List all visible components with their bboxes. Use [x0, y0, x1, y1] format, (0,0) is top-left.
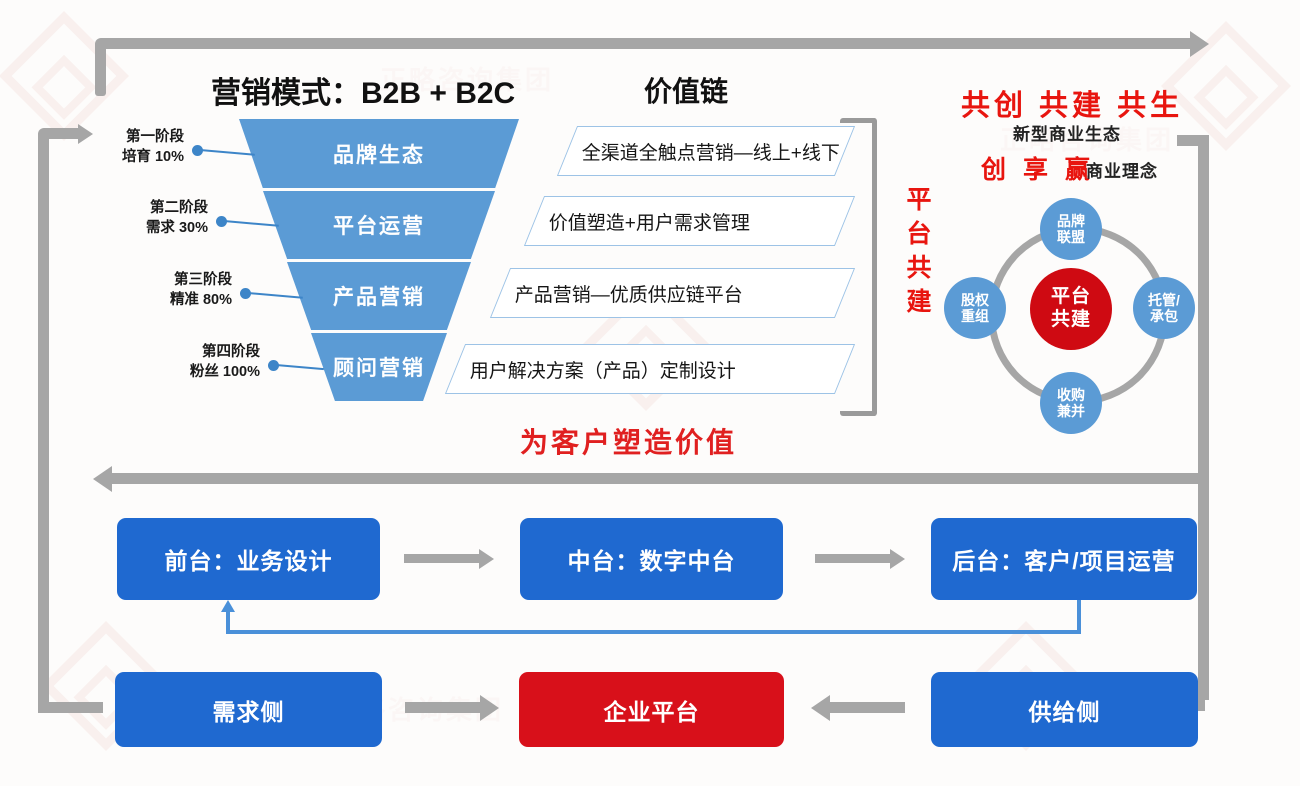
right-headline-red: 共创 共建 共生	[961, 82, 1183, 124]
bottom-box-supply-side[interactable]: 供给侧	[931, 672, 1198, 747]
cobuild-node-top[interactable]: 品牌 联盟	[1040, 198, 1102, 260]
bottom-box-demand-side[interactable]: 需求侧	[115, 672, 382, 747]
process-box-front-office[interactable]: 前台：业务设计	[117, 518, 380, 600]
cobuild-node-left-line2: 重组	[961, 308, 989, 324]
stage-label-3: 第三阶段 精准 80%	[124, 271, 232, 310]
flow-left-vertical	[38, 138, 49, 713]
cobuild-node-bottom-line2: 兼并	[1057, 403, 1085, 419]
flow-right-vertical	[1198, 135, 1209, 700]
right-concept-sub: 商业理念	[1086, 157, 1158, 182]
cobuild-node-top-line2: 联盟	[1057, 229, 1085, 245]
value-chain-box-4-label: 用户解决方案（产品）定制设计	[456, 356, 736, 383]
bottom-box-supply-side-label: 供给侧	[1029, 693, 1101, 727]
value-chain-box-1-label: 全渠道全触点营销—线上+线下	[568, 138, 840, 165]
funnel-slice-4-label: 顾问营销	[333, 352, 425, 382]
right-headline-sub: 新型商业生态	[1013, 120, 1121, 145]
right-concept-red: 创 享 赢	[981, 150, 1095, 186]
flow-top-arrow-head	[1190, 31, 1209, 57]
stage-1-line2: 培育 10%	[76, 148, 184, 168]
funnel-slice-4[interactable]: 顾问营销	[311, 333, 447, 401]
cobuild-node-right-line2: 承包	[1150, 308, 1178, 324]
stage-2-line1: 第二阶段	[100, 199, 208, 219]
cobuild-node-top-line1: 品牌	[1057, 213, 1085, 229]
stage-label-4: 第四阶段 粉丝 100%	[148, 343, 260, 382]
cobuild-center[interactable]: 平台 共建	[1030, 268, 1112, 350]
stage-2-leader	[224, 220, 279, 227]
value-chain-box-2-label: 价值塑造+用户需求管理	[535, 208, 750, 235]
value-chain-box-4[interactable]: 用户解决方案（产品）定制设计	[445, 344, 855, 394]
stage-1-line1: 第一阶段	[76, 128, 184, 148]
feedback-loop-vertical-right	[1077, 600, 1081, 634]
feedback-loop-horizontal	[226, 630, 1081, 634]
stage-label-2: 第二阶段 需求 30%	[100, 199, 208, 238]
stage-4-line1: 第四阶段	[148, 343, 260, 363]
funnel-slice-2[interactable]: 平台运营	[263, 191, 495, 259]
process-arrow-2-body	[815, 554, 890, 563]
cobuild-node-left[interactable]: 股权 重组	[944, 277, 1006, 339]
flow-return-arrow-head	[93, 466, 112, 492]
bottom-box-enterprise-platform[interactable]: 企业平台	[519, 672, 784, 747]
bottom-arrow-2-body	[830, 702, 905, 713]
process-arrow-1-head	[479, 549, 494, 569]
stage-2-line2: 需求 30%	[100, 219, 208, 239]
customer-value-slogan: 为客户塑造价值	[520, 421, 737, 461]
cobuild-node-right-line1: 托管/	[1148, 292, 1180, 308]
funnel-slice-3[interactable]: 产品营销	[287, 262, 471, 330]
stage-3-line1: 第三阶段	[124, 271, 232, 291]
stage-4-leader	[276, 364, 324, 370]
page-title-value-chain: 价值链	[644, 70, 728, 110]
stage-3-line2: 精准 80%	[124, 291, 232, 311]
bottom-arrow-1-head	[480, 695, 499, 721]
funnel-slice-2-label: 平台运营	[333, 210, 425, 240]
process-box-front-office-label: 前台：业务设计	[165, 542, 333, 576]
funnel-slice-1-label: 品牌生态	[333, 139, 425, 169]
bottom-box-enterprise-platform-label: 企业平台	[604, 693, 700, 727]
flow-top-left-corner-vertical	[95, 48, 106, 96]
flow-left-bottom-horizontal	[38, 702, 103, 713]
value-chain-box-3[interactable]: 产品营销—优质供应链平台	[490, 268, 855, 318]
feedback-loop-vertical-left	[226, 612, 230, 634]
process-box-back-office-label: 后台：客户/项目运营	[952, 542, 1175, 576]
stage-4-line2: 粉丝 100%	[148, 363, 260, 383]
cobuild-center-line1: 平台	[1051, 286, 1091, 309]
value-chain-box-2[interactable]: 价值塑造+用户需求管理	[524, 196, 855, 246]
stage-3-leader	[248, 292, 303, 299]
cobuild-node-right[interactable]: 托管/ 承包	[1133, 277, 1195, 339]
funnel-slice-1[interactable]: 品牌生态	[239, 119, 519, 188]
value-chain-box-3-label: 产品营销—优质供应链平台	[501, 280, 743, 307]
value-chain-bracket	[840, 118, 877, 416]
process-arrow-1-body	[404, 554, 479, 563]
page-title-marketing-mode: 营销模式：B2B + B2C	[211, 68, 515, 112]
bottom-arrow-2-head	[811, 695, 830, 721]
feedback-loop-arrow-head	[221, 600, 235, 612]
stage-label-1: 第一阶段 培育 10%	[76, 128, 184, 167]
process-arrow-2-head	[890, 549, 905, 569]
flow-top-arrow-body	[118, 38, 1192, 49]
cobuild-node-bottom[interactable]: 收购 兼并	[1040, 372, 1102, 434]
stage-1-leader	[200, 149, 255, 156]
process-box-back-office[interactable]: 后台：客户/项目运营	[931, 518, 1197, 600]
value-chain-box-1[interactable]: 全渠道全触点营销—线上+线下	[557, 126, 855, 176]
funnel-slice-3-label: 产品营销	[333, 281, 425, 311]
bottom-arrow-1-body	[405, 702, 480, 713]
process-box-middle-office[interactable]: 中台：数字中台	[520, 518, 783, 600]
flow-return-arrow-body	[112, 473, 1202, 484]
cobuild-node-left-line1: 股权	[961, 292, 989, 308]
cobuild-node-bottom-line1: 收购	[1057, 387, 1085, 403]
process-box-middle-office-label: 中台：数字中台	[568, 542, 736, 576]
bottom-box-demand-side-label: 需求侧	[213, 693, 285, 727]
platform-cobuild-vertical-label: 平台共建	[899, 186, 935, 342]
cobuild-center-line2: 共建	[1051, 309, 1091, 332]
